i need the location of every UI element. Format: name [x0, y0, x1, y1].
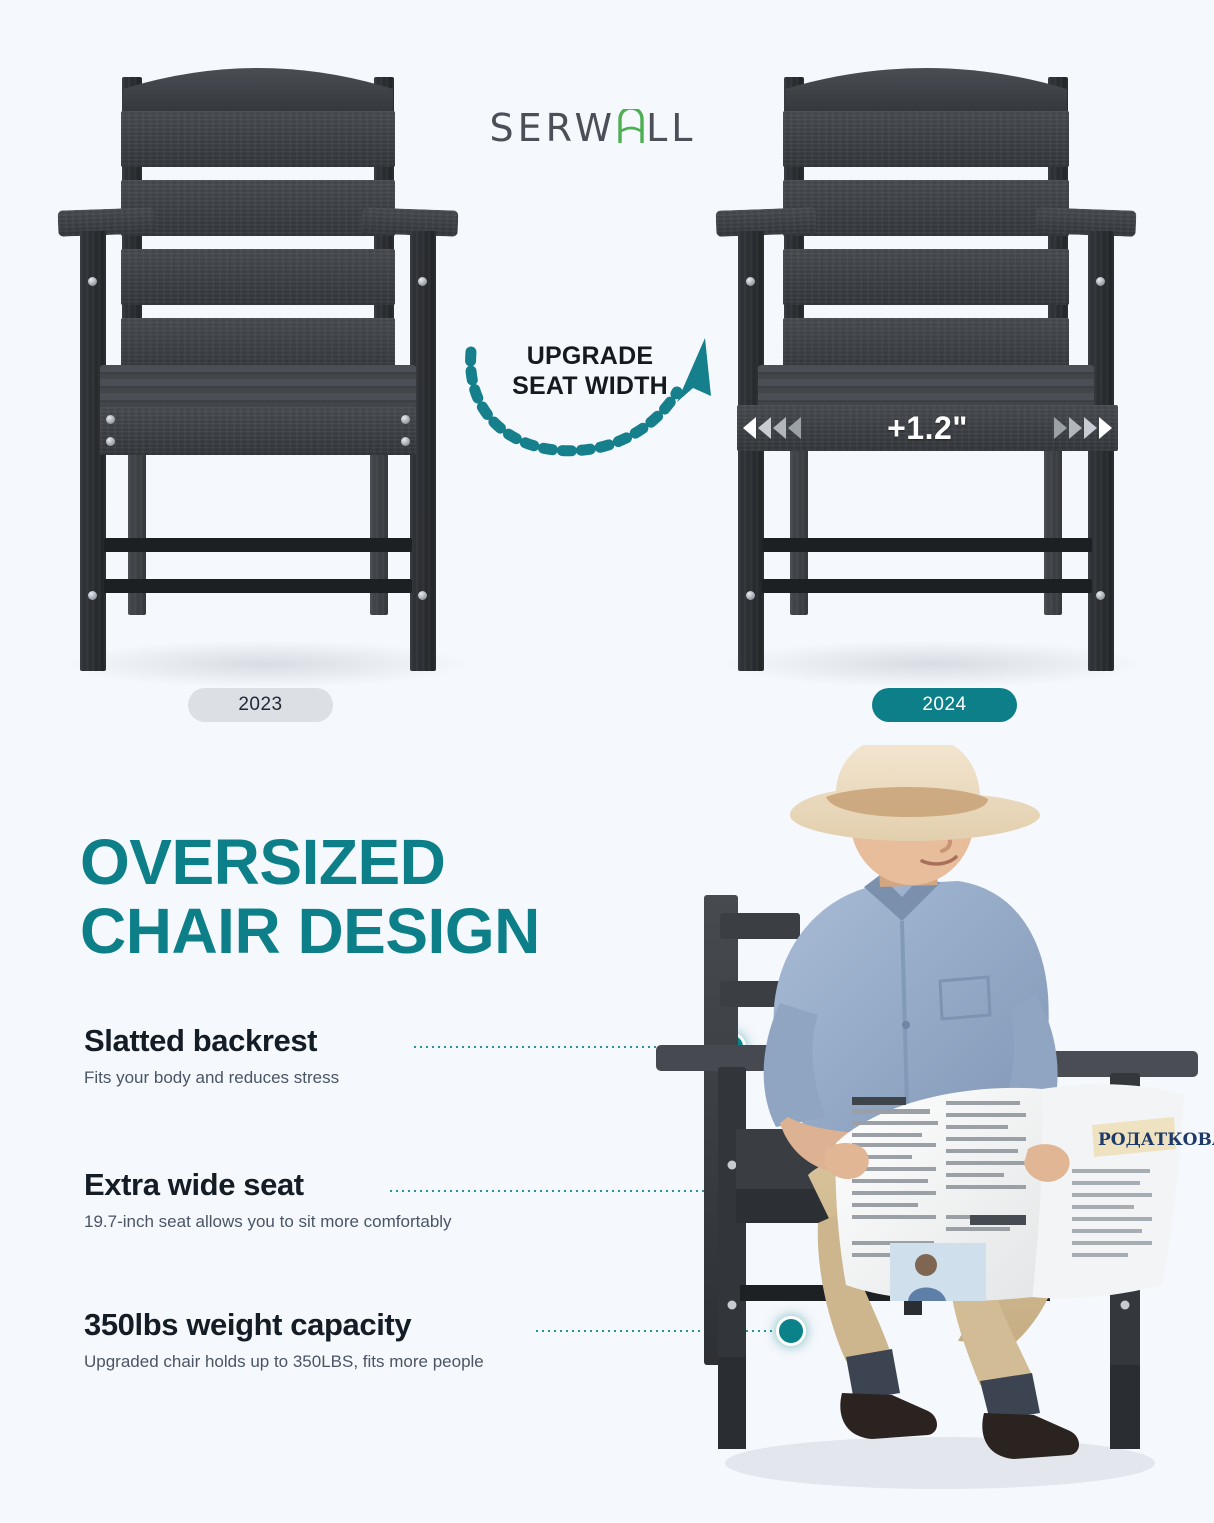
- armrest-left: [58, 207, 155, 236]
- feature-title: Extra wide seat: [84, 1168, 584, 1202]
- seat-width-badge: +1.2": [737, 405, 1118, 451]
- screw: [728, 1161, 737, 1170]
- chevrons-left: [743, 417, 801, 439]
- brand-logo: SERW LL: [478, 104, 708, 152]
- newspaper: РОДАТКОВА: [835, 1084, 1214, 1301]
- person-sock-left: [846, 1349, 900, 1401]
- chair-back-slat-upper: [720, 913, 800, 939]
- headline-line-1: OVERSIZED: [80, 828, 700, 897]
- screw: [1096, 277, 1105, 286]
- chair-leg-foot-right: [1110, 1365, 1140, 1449]
- screw: [418, 277, 427, 286]
- upgrade-callout-text: UPGRADE SEAT WIDTH: [500, 342, 680, 401]
- chevron-left-icon: [758, 417, 771, 439]
- brand-text-part2: LL: [646, 106, 696, 150]
- chevron-right-icon: [1054, 417, 1067, 439]
- screw: [746, 277, 755, 286]
- back-slat-1: [121, 111, 395, 167]
- chevrons-right: [1054, 417, 1112, 439]
- screw: [88, 591, 97, 600]
- stretcher-lower: [104, 579, 412, 593]
- armrest-right: [1036, 207, 1137, 236]
- feature-desc: 19.7-inch seat allows you to sit more co…: [84, 1211, 584, 1234]
- feature-desc: Fits your body and reduces stress: [84, 1067, 584, 1090]
- year-label-2023: 2023: [238, 694, 282, 716]
- man-on-chair-illustration: РОДАТКОВА: [640, 745, 1214, 1518]
- screw: [746, 591, 755, 600]
- chevron-left-icon: [743, 417, 756, 439]
- chair-a-icon: [616, 109, 646, 143]
- brand-logo-text: SERW LL: [490, 106, 697, 150]
- back-slat-3: [121, 249, 395, 305]
- brand-logo-chair-a: [616, 109, 646, 141]
- chevron-left-icon: [773, 417, 786, 439]
- seat-width-value: +1.2": [887, 410, 968, 447]
- year-pill-2024: 2024: [872, 688, 1017, 722]
- screw: [418, 591, 427, 600]
- feature-desc: Upgraded chair holds up to 350LBS, fits …: [84, 1351, 584, 1374]
- newspaper-ad-face: [915, 1254, 937, 1276]
- back-slat-2: [783, 180, 1069, 236]
- shirt-button: [902, 1021, 910, 1029]
- chevron-left-icon: [788, 417, 801, 439]
- screw: [106, 415, 115, 424]
- lifestyle-photo-man-on-chair: РОДАТКОВА: [640, 745, 1214, 1518]
- stretcher-lower: [762, 579, 1092, 593]
- armrest-left: [716, 207, 817, 236]
- feature-slatted-backrest: Slatted backrest Fits your body and redu…: [84, 1024, 584, 1090]
- feature-extra-wide-seat: Extra wide seat 19.7-inch seat allows yo…: [84, 1168, 584, 1234]
- newspaper-right-page: [1032, 1084, 1184, 1298]
- screw: [1121, 1301, 1130, 1310]
- top-rail-shape: [121, 59, 395, 115]
- stretcher-upper: [762, 538, 1092, 552]
- top-rail-shape: [783, 59, 1069, 115]
- upgrade-callout: UPGRADE SEAT WIDTH: [455, 330, 720, 475]
- newspaper-masthead-text: РОДАТКОВА: [1098, 1130, 1214, 1150]
- chair-2024: [716, 55, 1136, 670]
- back-slat-2: [121, 180, 395, 236]
- chair-2023: [58, 55, 458, 670]
- upgrade-line-1: UPGRADE: [500, 342, 680, 372]
- stretcher-upper: [104, 538, 412, 552]
- chair-leg-foot-left: [718, 1357, 746, 1449]
- top-rail: [121, 59, 395, 115]
- year-label-2024: 2024: [922, 694, 966, 716]
- front-leg-right: [1088, 231, 1114, 671]
- top-rail: [783, 59, 1069, 115]
- screw: [401, 437, 410, 446]
- chevron-right-icon: [1084, 417, 1097, 439]
- seat-slats: [100, 365, 416, 409]
- upgrade-line-2: SEAT WIDTH: [500, 372, 680, 402]
- back-slat-3: [783, 249, 1069, 305]
- chevron-right-icon: [1069, 417, 1082, 439]
- person-shoe-right: [982, 1413, 1079, 1459]
- feature-title: 350lbs weight capacity: [84, 1308, 584, 1342]
- newspaper-subhead: [970, 1215, 1026, 1225]
- feature-weight-capacity: 350lbs weight capacity Upgraded chair ho…: [84, 1308, 584, 1374]
- page-headline: OVERSIZED CHAIR DESIGN: [80, 828, 700, 966]
- screw: [401, 415, 410, 424]
- year-pill-2023: 2023: [188, 688, 333, 722]
- front-leg-left: [738, 231, 764, 671]
- floor-shadow: [725, 1437, 1155, 1489]
- feature-title: Slatted backrest: [84, 1024, 584, 1058]
- brand-text-part1: SERW: [490, 106, 617, 150]
- seat-slats: [758, 365, 1094, 409]
- screw: [1096, 591, 1105, 600]
- person-shoe-left: [840, 1393, 937, 1439]
- back-slat-1: [783, 111, 1069, 167]
- headline-line-2: CHAIR DESIGN: [80, 897, 700, 966]
- screw: [728, 1301, 737, 1310]
- newspaper-headline: [852, 1097, 906, 1105]
- screw: [88, 277, 97, 286]
- seat-apron: [100, 407, 416, 455]
- chevron-right-icon: [1099, 417, 1112, 439]
- screw: [106, 437, 115, 446]
